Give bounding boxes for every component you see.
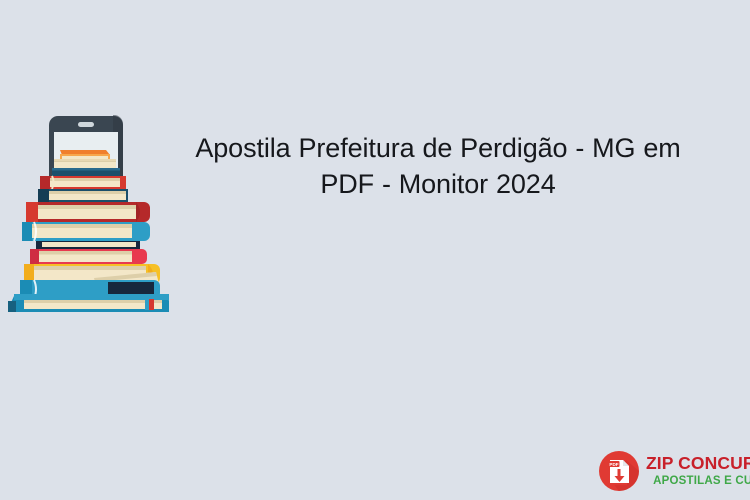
brand-logo[interactable]: PDF ZIP CONCURSOS APOSTILAS E CURSOS xyxy=(598,448,746,494)
logo-secondary-text: APOSTILAS E CURSOS xyxy=(646,476,750,488)
book-red-upper xyxy=(40,176,126,189)
book-pink xyxy=(30,249,147,264)
book-navy-slim xyxy=(52,168,120,176)
pdf-download-icon: PDF xyxy=(598,450,640,492)
book-orange-top xyxy=(60,150,110,159)
svg-text:PDF: PDF xyxy=(609,462,618,467)
logo-primary-text: ZIP CONCURSOS xyxy=(646,455,750,473)
title-block: Apostila Prefeitura de Perdigão - MG em … xyxy=(178,130,698,202)
stack-of-books-icon xyxy=(8,112,178,312)
book-cream-top xyxy=(54,159,116,168)
book-teal-large xyxy=(22,222,150,241)
product-banner: Apostila Prefeitura de Perdigão - MG em … xyxy=(0,0,750,500)
book-darknavy-thin xyxy=(36,241,140,249)
book-blue-bottom xyxy=(8,294,169,312)
book-darkred-large xyxy=(26,202,150,222)
logo-text: ZIP CONCURSOS APOSTILAS E CURSOS xyxy=(646,455,750,487)
book-navy-mid xyxy=(38,189,128,202)
page-title: Apostila Prefeitura de Perdigão - MG em … xyxy=(178,130,698,202)
